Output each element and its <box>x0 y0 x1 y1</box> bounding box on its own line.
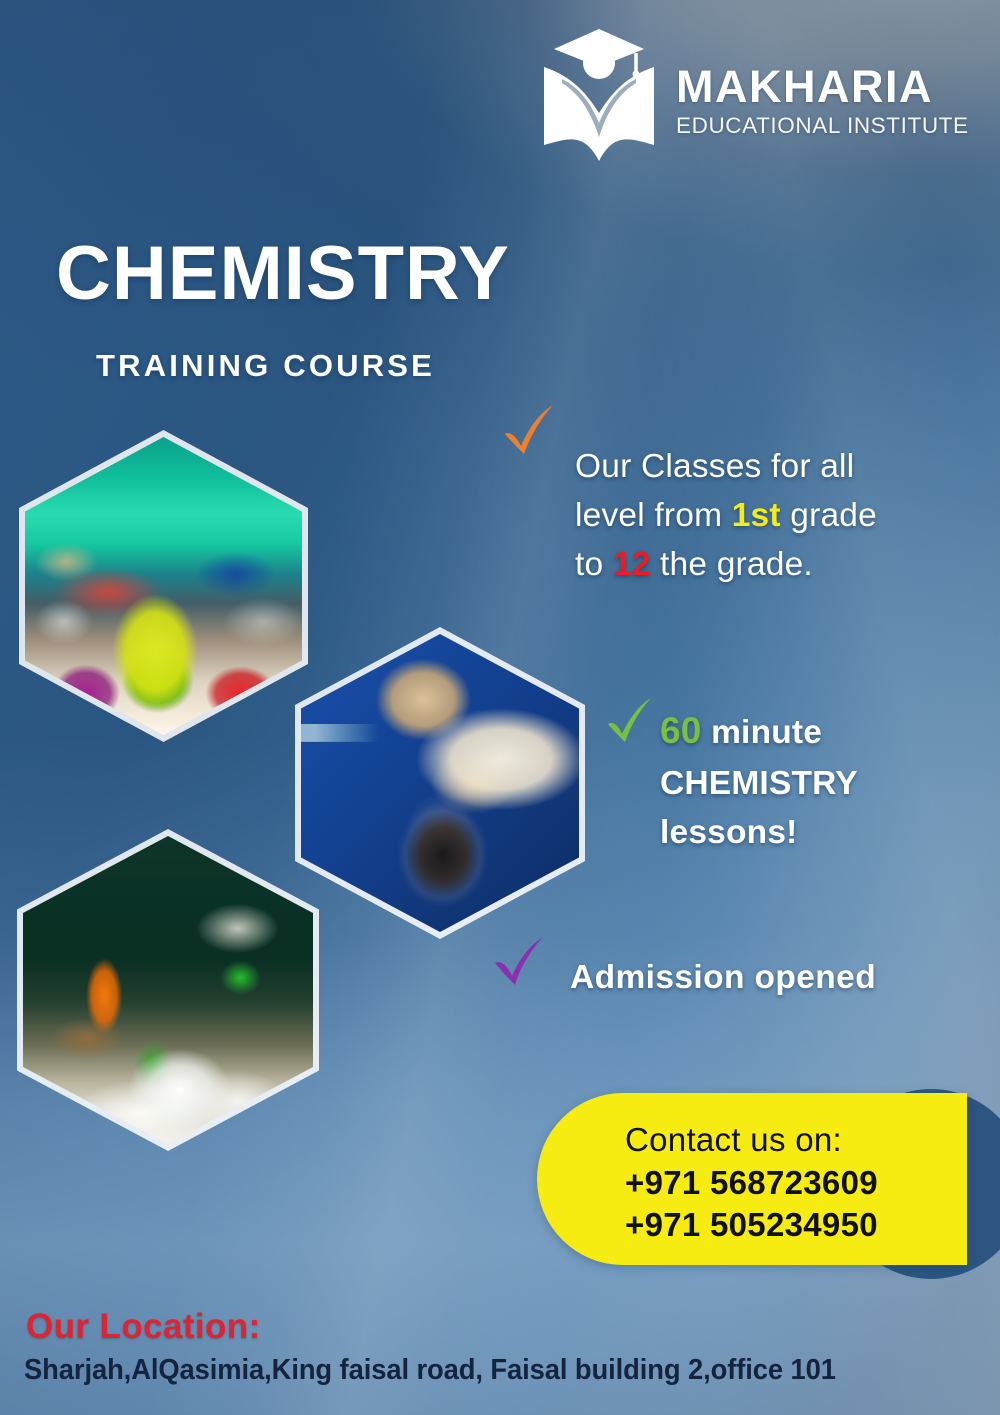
bullet-classes-levels: Our Classes for all level from 1st grade… <box>575 442 965 590</box>
brand-name: MAKHARIA <box>676 64 933 109</box>
bullet-1-line-3-pre: to <box>575 546 613 583</box>
lesson-minutes-highlight: 60 <box>660 710 702 751</box>
graduation-cap-book-logo-icon <box>540 27 658 167</box>
bullet-1-line-1: Our Classes for all <box>575 442 965 491</box>
bullet-1-line-2-post: grade <box>781 497 877 534</box>
location-title: Our Location: <box>26 1309 261 1344</box>
grade-end-highlight: 12 <box>613 546 651 583</box>
poster-canvas: MAKHARIA EDUCATIONAL INSTITUTE CHEMISTRY… <box>0 0 1000 1415</box>
grade-start-highlight: 1st <box>732 497 781 534</box>
bullet-1-line-3-post: the grade. <box>651 546 813 583</box>
bullet-1-line-3: to 12 the grade. <box>575 540 965 589</box>
contact-banner: Contact us on: +971 568723609 +971 50523… <box>537 1093 1000 1273</box>
bullet-admission: Admission opened <box>570 958 970 998</box>
bullet-1-line-2: level from 1st grade <box>575 491 965 540</box>
orange-check-icon <box>500 404 556 458</box>
page-title: CHEMISTRY <box>56 236 510 312</box>
contact-content: Contact us on: +971 568723609 +971 50523… <box>625 1119 965 1247</box>
contact-phone-1[interactable]: +971 568723609 <box>625 1162 965 1205</box>
green-check-icon <box>605 698 653 744</box>
contact-phone-2[interactable]: +971 505234950 <box>625 1204 965 1247</box>
brand-text: MAKHARIA EDUCATIONAL INSTITUTE <box>676 56 969 138</box>
location-address: Sharjah,AlQasimia,King faisal road, Fais… <box>24 1356 836 1385</box>
brand-subtitle: EDUCATIONAL INSTITUTE <box>676 115 969 138</box>
bullet-2-line-1-post: minute <box>702 714 823 751</box>
bullet-2-line-2: CHEMISTRY <box>660 759 960 809</box>
bullet-lesson-length: 60 minute CHEMISTRY lessons! <box>660 704 960 858</box>
contact-heading: Contact us on: <box>625 1119 965 1162</box>
bullet-1-line-2-pre: level from <box>575 497 732 534</box>
bullet-2-line-3: lessons! <box>660 808 960 858</box>
purple-check-icon <box>492 937 546 987</box>
brand-logo: MAKHARIA EDUCATIONAL INSTITUTE <box>540 24 970 170</box>
page-subtitle: TRAINING COURSE <box>96 350 435 381</box>
bullet-3-line-1: Admission opened <box>570 958 970 998</box>
bullet-2-line-1: 60 minute <box>660 704 960 759</box>
